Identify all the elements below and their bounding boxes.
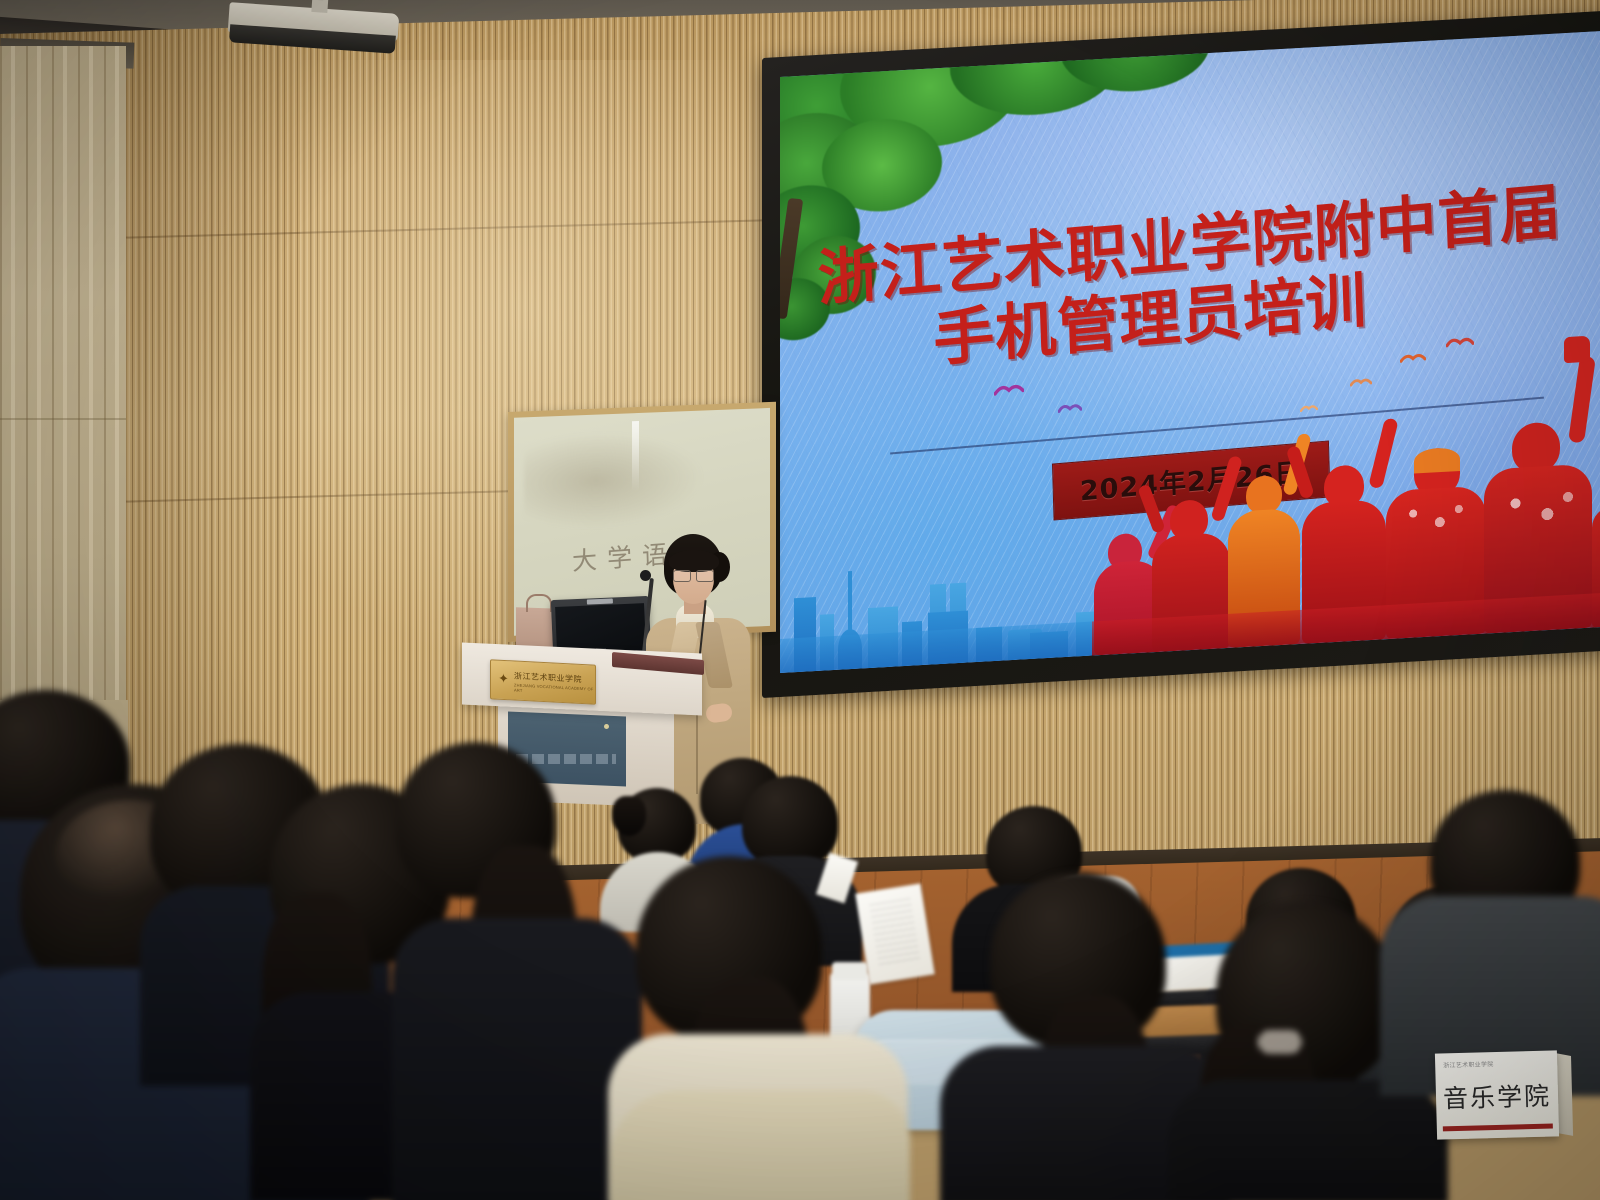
bird-icon (1446, 334, 1474, 355)
table-tent-card: 浙江艺术职业学院 音乐学院 (1435, 1050, 1559, 1139)
audience-shoulders (1168, 1080, 1448, 1200)
hair-tie (1258, 1030, 1302, 1054)
audience-hair-bun (612, 796, 646, 836)
tent-card-text: 音乐学院 (1436, 1076, 1559, 1115)
plaque-english-text: ZHEJIANG VOCATIONAL ACADEMY OF ART (514, 682, 595, 696)
bird-icon (1350, 374, 1372, 393)
crowd-silhouette-graphic (1092, 416, 1600, 655)
podium-plaque: ✦ 浙江艺术职业学院 ZHEJIANG VOCATIONAL ACADEMY O… (490, 659, 596, 705)
screen-content: 浙江艺术职业学院附中首届 手机管理员培训 2024年2月26日 (780, 31, 1600, 673)
audience-head (742, 776, 838, 868)
led-screen: 浙江艺术职业学院附中首届 手机管理员培训 2024年2月26日 (762, 10, 1600, 698)
audience-shoulders (392, 918, 642, 1200)
tent-card-logo: 浙江艺术职业学院 (1443, 1059, 1494, 1069)
bird-icon (994, 381, 1024, 402)
lecture-hall-photo: 浙江艺术职业学院附中首届 手机管理员培训 2024年2月26日 (0, 0, 1600, 1200)
speaker-glasses (673, 570, 714, 580)
bird-icon (1058, 400, 1082, 419)
bottle-cap (832, 962, 868, 980)
bird-icon (1300, 399, 1318, 418)
school-logo-icon: ✦ (498, 672, 511, 689)
curtain (0, 46, 126, 766)
audience-jacket (610, 1090, 910, 1200)
bird-icon (1400, 351, 1426, 370)
paper-bag-handle (526, 594, 552, 612)
